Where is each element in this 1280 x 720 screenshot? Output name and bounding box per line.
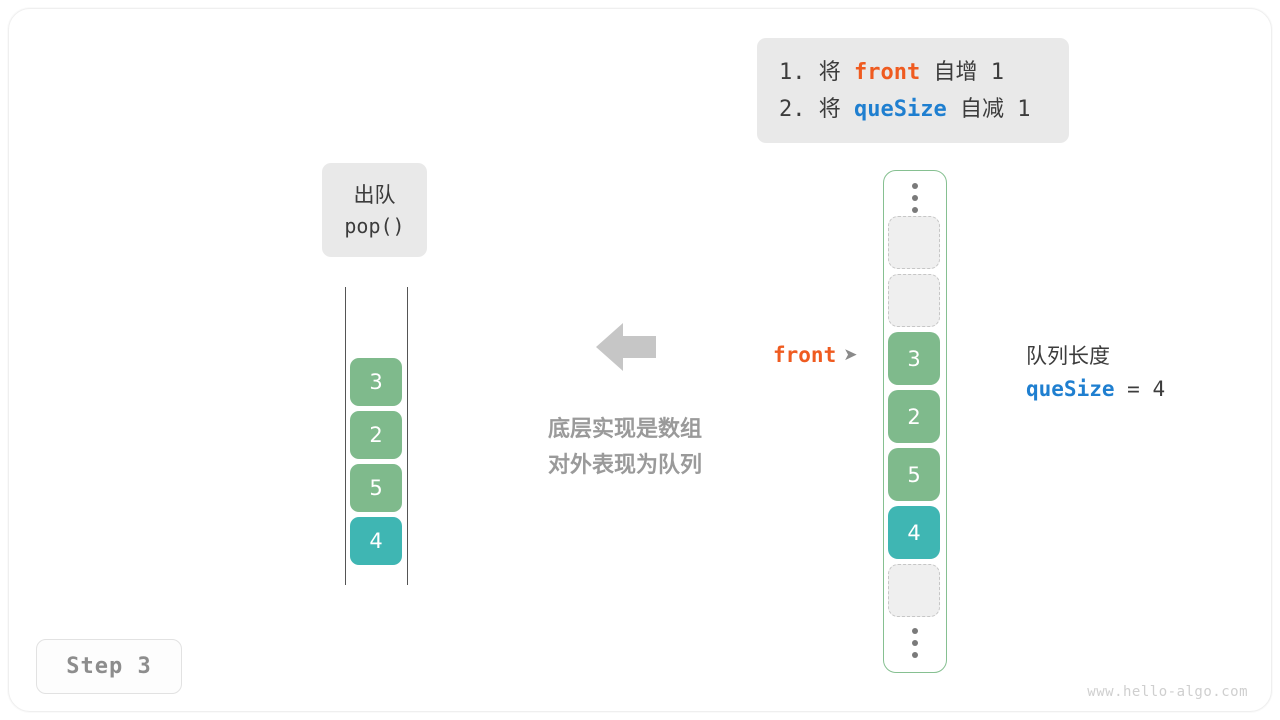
array-cell: 2 [888,390,940,443]
ellipsis-bottom-icon [912,628,918,658]
array-cell: 3 [888,332,940,385]
instruction-line-1-suffix: 自增 1 [920,60,1004,85]
dot [912,640,918,646]
array-cell: 4 [888,506,940,559]
queue-length-annotation: 队列长度 queSize = 4 [1026,340,1165,406]
queue-rail-left [345,287,346,585]
array-cell-empty [888,564,940,617]
center-caption: 底层实现是数组 对外表现为队列 [500,412,750,484]
queue-cell: 3 [350,358,402,406]
queue-rail-right [407,287,408,585]
instruction-line-1: 1. 将 front 自增 1 [779,54,1049,91]
instruction-note: 1. 将 front 自增 1 2. 将 queSize 自减 1 [757,38,1069,143]
logical-queue: 3 2 5 4 [345,287,409,585]
dot [912,183,918,189]
queue-length-expression: queSize = 4 [1026,373,1165,406]
queue-length-token: queSize [1026,377,1115,401]
instruction-line-2-token: queSize [854,97,947,122]
array-cells: 3 2 5 4 [888,216,942,622]
diagram-canvas: 1. 将 front 自增 1 2. 将 queSize 自减 1 出队 pop… [0,0,1280,720]
instruction-line-1-prefix: 1. 将 [779,60,854,85]
operation-title: 出队 [322,180,427,211]
queue-cell: 5 [350,464,402,512]
array-cell: 5 [888,448,940,501]
step-badge: Step 3 [36,639,182,694]
ellipsis-top-icon [912,183,918,213]
logical-queue-cells: 3 2 5 4 [350,358,404,570]
dot [912,628,918,634]
queue-length-value: = 4 [1115,377,1166,401]
queue-cell: 2 [350,411,402,459]
dot [912,207,918,213]
instruction-line-2-prefix: 2. 将 [779,97,854,122]
caption-line-2: 对外表现为队列 [500,448,750,484]
operation-method: pop() [322,211,427,242]
queue-cell: 4 [350,517,402,565]
front-pointer: front ➤ [773,343,857,367]
instruction-line-1-token: front [854,60,920,85]
queue-length-title: 队列长度 [1026,340,1165,373]
step-badge-label: Step 3 [66,654,151,679]
flow-arrow-left-icon [596,321,656,373]
dot [912,652,918,658]
caption-line-1: 底层实现是数组 [500,412,750,448]
array-container: 3 2 5 4 [883,170,947,673]
instruction-line-2: 2. 将 queSize 自减 1 [779,91,1049,128]
array-cell-empty [888,216,940,269]
operation-label-box: 出队 pop() [322,163,427,257]
front-pointer-label: front [773,343,836,367]
watermark: www.hello-algo.com [1087,684,1248,700]
array-cell-empty [888,274,940,327]
front-pointer-caret-icon: ➤ [843,347,857,364]
dot [912,195,918,201]
instruction-line-2-suffix: 自减 1 [947,97,1031,122]
